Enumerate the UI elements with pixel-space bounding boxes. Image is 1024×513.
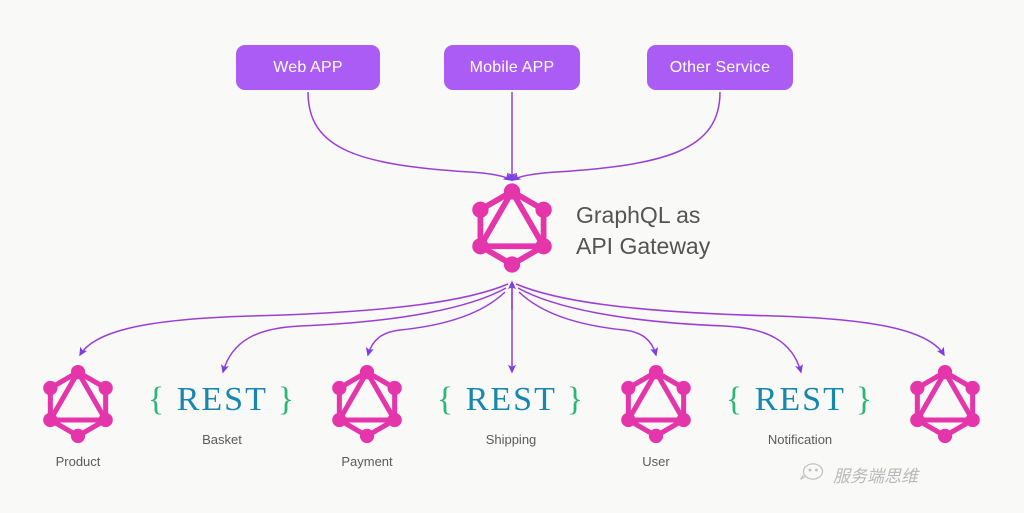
edge-gateway-to-basket bbox=[223, 288, 506, 372]
watermark-text: 服务端思维 bbox=[833, 462, 918, 487]
rest-logo-text: { REST } bbox=[437, 383, 585, 417]
edge-gateway-to-product bbox=[80, 284, 508, 355]
edge-gateway-to-service7 bbox=[516, 284, 944, 355]
client-box-label: Web APP bbox=[273, 59, 343, 77]
client-box-mobile-app[interactable]: Mobile APP bbox=[444, 45, 580, 90]
gateway-label: GraphQL as API Gateway bbox=[576, 200, 710, 261]
service-node-label: Product bbox=[0, 454, 168, 469]
watermark: 服务端思维 bbox=[800, 462, 918, 487]
graphql-logo-icon bbox=[464, 180, 560, 281]
graphql-logo-icon bbox=[855, 362, 1024, 446]
wechat-bubble-icon bbox=[800, 462, 826, 487]
rest-logo-text: { REST } bbox=[148, 383, 296, 417]
service-node-label: User bbox=[566, 454, 746, 469]
api-gateway-node[interactable]: GraphQL as API Gateway bbox=[464, 180, 710, 281]
client-box-label: Other Service bbox=[670, 59, 770, 77]
rest-logo-text: { REST } bbox=[726, 383, 874, 417]
client-box-label: Mobile APP bbox=[470, 59, 555, 77]
edge-otherservice-to-gateway bbox=[513, 92, 720, 180]
edge-webapp-to-gateway bbox=[308, 92, 511, 180]
edge-gateway-to-notification bbox=[518, 288, 801, 372]
edge-gateway-to-user bbox=[519, 292, 656, 355]
client-box-web-app[interactable]: Web APP bbox=[236, 45, 380, 90]
service-node-label: Payment bbox=[277, 454, 457, 469]
service-node-unlabeled[interactable] bbox=[855, 362, 1024, 446]
edge-gateway-to-payment bbox=[368, 292, 505, 355]
client-box-other-service[interactable]: Other Service bbox=[647, 45, 793, 90]
diagram-canvas: Web APP Mobile APP Other Service GraphQL… bbox=[0, 0, 1024, 513]
